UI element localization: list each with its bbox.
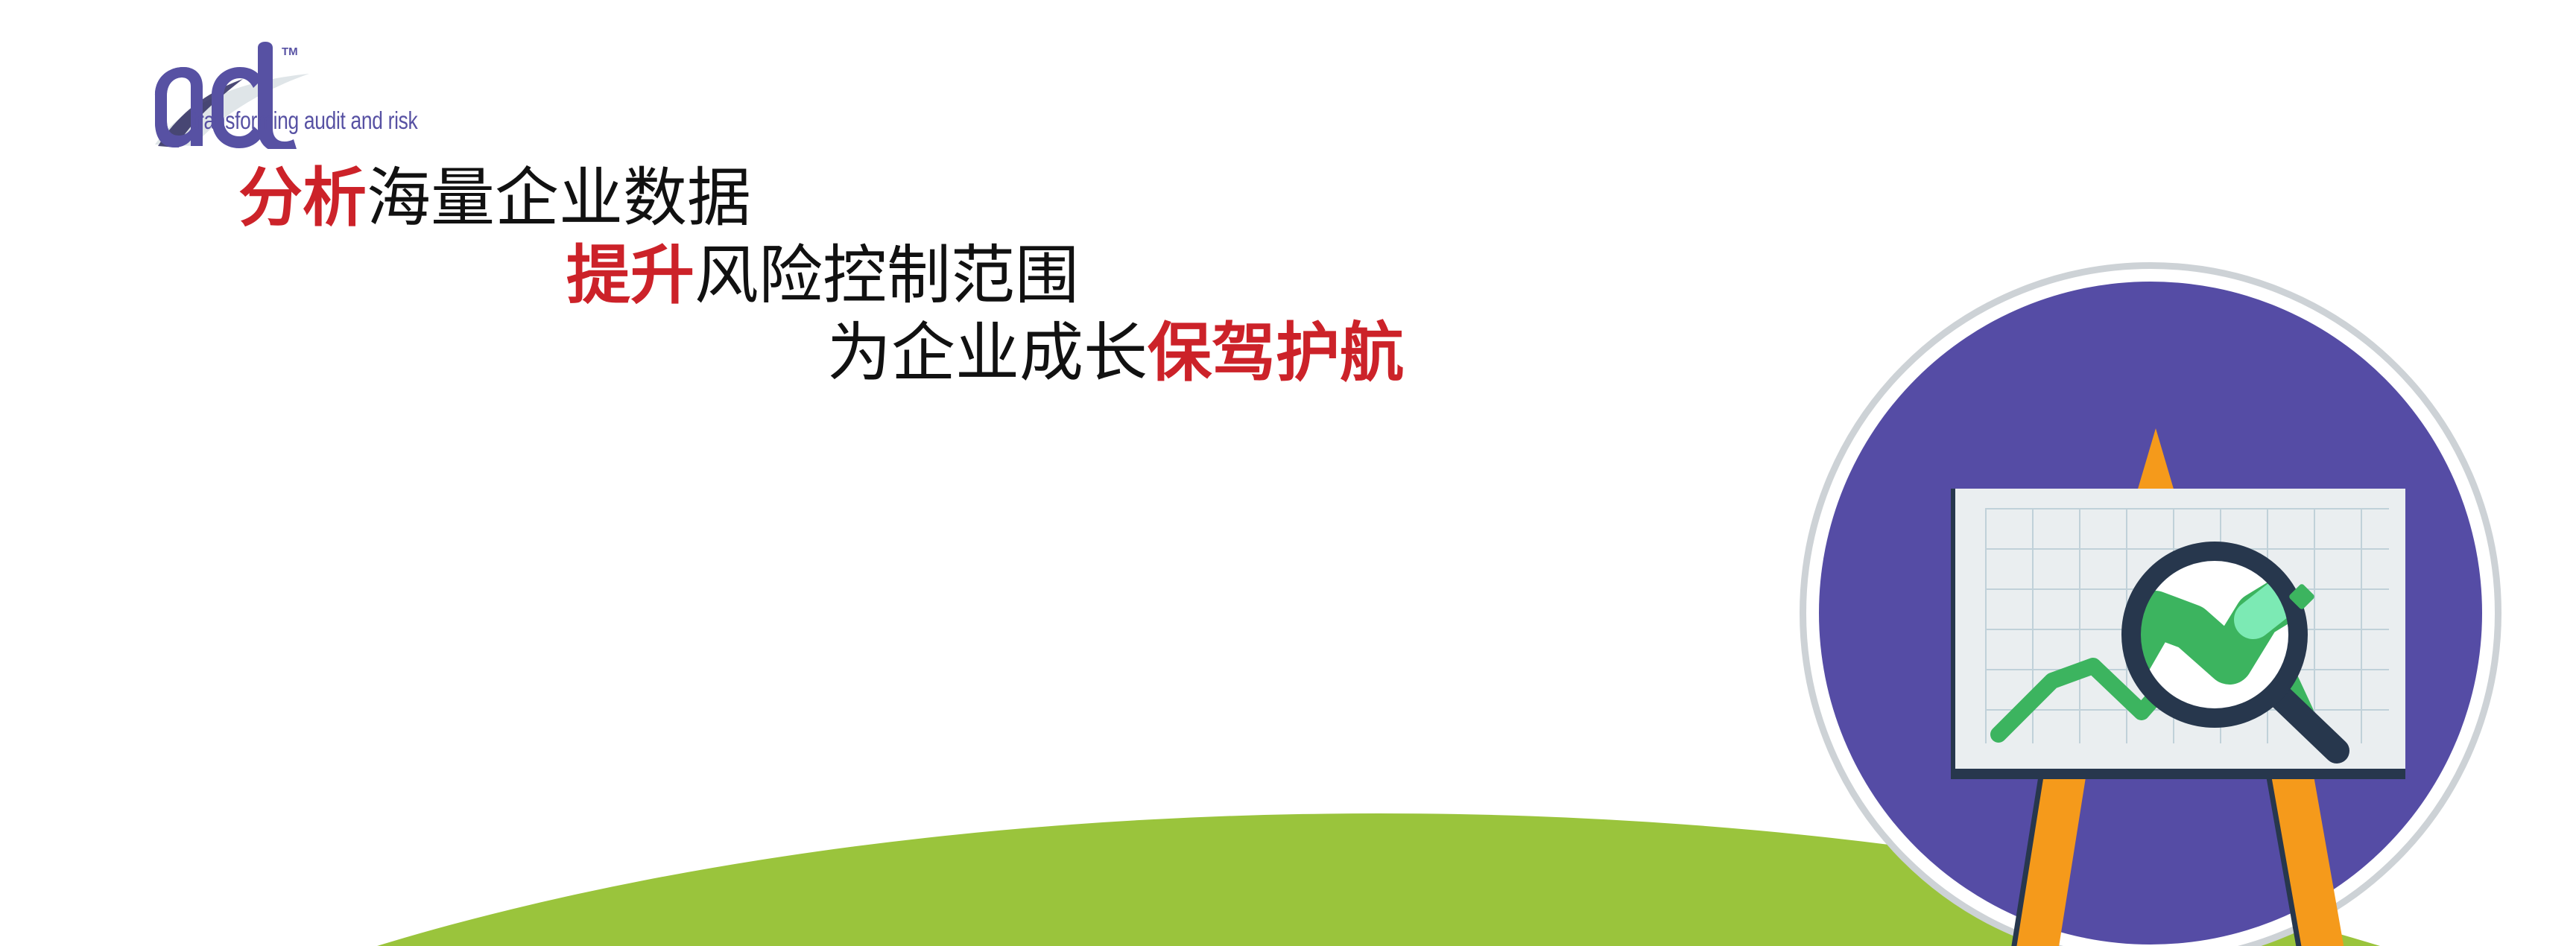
headline-line-3: 为企业成长保驾护航	[827, 314, 1714, 392]
headline-line-3-lead: 为企业成长	[827, 317, 1148, 389]
magnifying-glass-icon	[1955, 489, 2405, 779]
illustration-clip	[1783, 246, 2528, 946]
headline-line-2-accent: 提升	[566, 240, 694, 311]
acl-marketing-banner: TM transforming audit and risk 分析海量企业数据 …	[0, 0, 2576, 946]
brand-tagline: transforming audit and risk	[192, 107, 417, 135]
data-analysis-illustration	[1783, 246, 2528, 946]
svg-text:TM: TM	[282, 45, 298, 58]
whiteboard	[1951, 489, 2405, 779]
headline-line-2: 提升风险控制范围	[566, 237, 1714, 314]
headline-line-3-accent: 保驾护航	[1148, 317, 1404, 389]
headline-line-1-rest: 海量企业数据	[367, 162, 751, 234]
headline-block: 分析海量企业数据 提升风险控制范围 为企业成长保驾护航	[0, 159, 1714, 392]
headline-line-2-rest: 风险控制范围	[694, 240, 1079, 311]
headline-line-1: 分析海量企业数据	[238, 159, 1714, 237]
headline-line-1-accent: 分析	[238, 162, 367, 234]
